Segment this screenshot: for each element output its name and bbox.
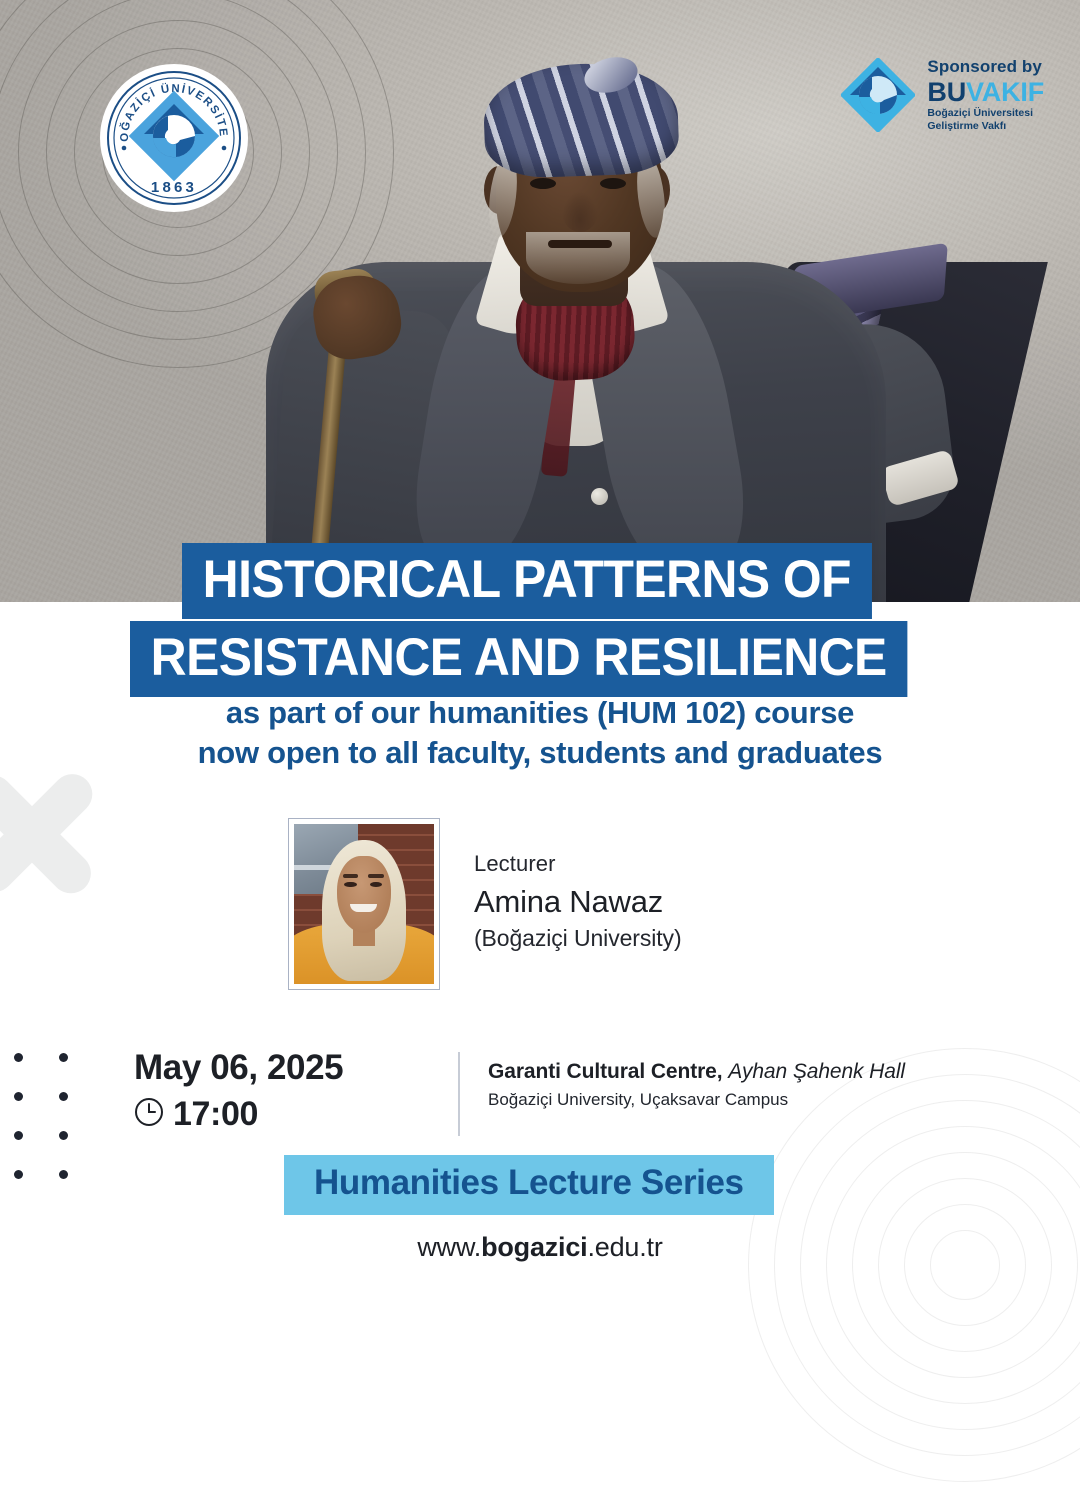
grid-dot <box>59 1053 68 1062</box>
historical-portrait-illustration <box>228 26 928 602</box>
bu-vakif-logo-icon <box>841 58 915 132</box>
venue-campus: Boğaziçi University, Uçaksavar Campus <box>488 1089 905 1112</box>
lecturer-affiliation: (Boğaziçi University) <box>474 923 682 954</box>
sponsor-brand-vakif: VAKIF <box>966 77 1044 107</box>
portrait-smile <box>350 904 377 912</box>
dot-grid-decor <box>14 1053 68 1209</box>
grid-dot <box>59 1131 68 1140</box>
bogazici-university-seal: BOĞAZİÇİ ÜNİVERSİTESİ 1863 <box>98 62 250 214</box>
left-eye <box>530 178 556 189</box>
event-date: May 06, 2025 <box>134 1048 343 1087</box>
sponsored-by-label: Sponsored by <box>927 58 1044 77</box>
url-prefix: www. <box>417 1232 481 1262</box>
event-time: 17:00 <box>173 1095 258 1134</box>
nose <box>562 192 598 232</box>
event-datetime: May 06, 2025 17:00 <box>134 1048 343 1134</box>
title-line-1: HISTORICAL PATTERNS OF <box>182 543 872 619</box>
subtitle: as part of our humanities (HUM 102) cour… <box>0 693 1080 772</box>
lecturer-name: Amina Nawaz <box>474 881 682 923</box>
event-time-row: 17:00 <box>134 1095 343 1134</box>
grid-dot <box>14 1092 23 1101</box>
subtitle-line-1: as part of our humanities (HUM 102) cour… <box>0 693 1080 733</box>
seal-year: 1863 <box>151 179 197 196</box>
grid-dot <box>59 1170 68 1179</box>
mouth <box>548 240 612 248</box>
title-line-2: RESISTANCE AND RESILIENCE <box>130 621 907 697</box>
lecturer-block: Lecturer Amina Nawaz (Boğaziçi Universit… <box>288 818 682 990</box>
website-url[interactable]: www.bogazici.edu.tr <box>0 1232 1080 1263</box>
cross-decor-icon <box>0 770 102 896</box>
grid-dot <box>14 1053 23 1062</box>
portrait-face <box>337 856 390 933</box>
grid-dot <box>14 1131 23 1140</box>
coat-button-upper <box>591 488 608 505</box>
page-title: HISTORICAL PATTERNS OF RESISTANCE AND RE… <box>0 543 1080 697</box>
right-eye <box>600 178 626 189</box>
event-venue: Garanti Cultural Centre, Ayhan Şahenk Ha… <box>488 1058 905 1112</box>
url-domain: bogazici <box>481 1232 587 1262</box>
lecturer-photo-frame <box>288 818 440 990</box>
portrait-left-eyebrow <box>343 874 358 878</box>
grid-dot <box>59 1092 68 1101</box>
lecturer-role-label: Lecturer <box>474 850 682 879</box>
headwrap <box>482 61 680 180</box>
grid-dot <box>14 1170 23 1179</box>
url-suffix: .edu.tr <box>587 1232 662 1262</box>
vertical-divider <box>458 1052 460 1136</box>
lecturer-avatar <box>294 824 434 984</box>
portrait-right-eye <box>370 882 383 887</box>
sponsor-block: Sponsored by BUVAKIF Boğaziçi Üniversite… <box>841 56 1044 133</box>
venue-hall: Ayhan Şahenk Hall <box>728 1060 905 1083</box>
sponsor-line2: Geliştirme Vakfı <box>927 120 1044 133</box>
venue-name: Garanti Cultural Centre, <box>488 1060 722 1083</box>
sponsor-brand-bu: BU <box>927 77 966 107</box>
portrait-left-eye <box>344 882 357 887</box>
portrait-right-eyebrow <box>368 874 383 878</box>
clock-icon <box>134 1097 164 1132</box>
subtitle-line-2: now open to all faculty, students and gr… <box>0 733 1080 773</box>
sponsor-brand: BUVAKIF <box>927 78 1044 106</box>
series-badge: Humanities Lecture Series <box>284 1155 774 1215</box>
sponsor-line1: Boğaziçi Üniversitesi <box>927 107 1044 120</box>
